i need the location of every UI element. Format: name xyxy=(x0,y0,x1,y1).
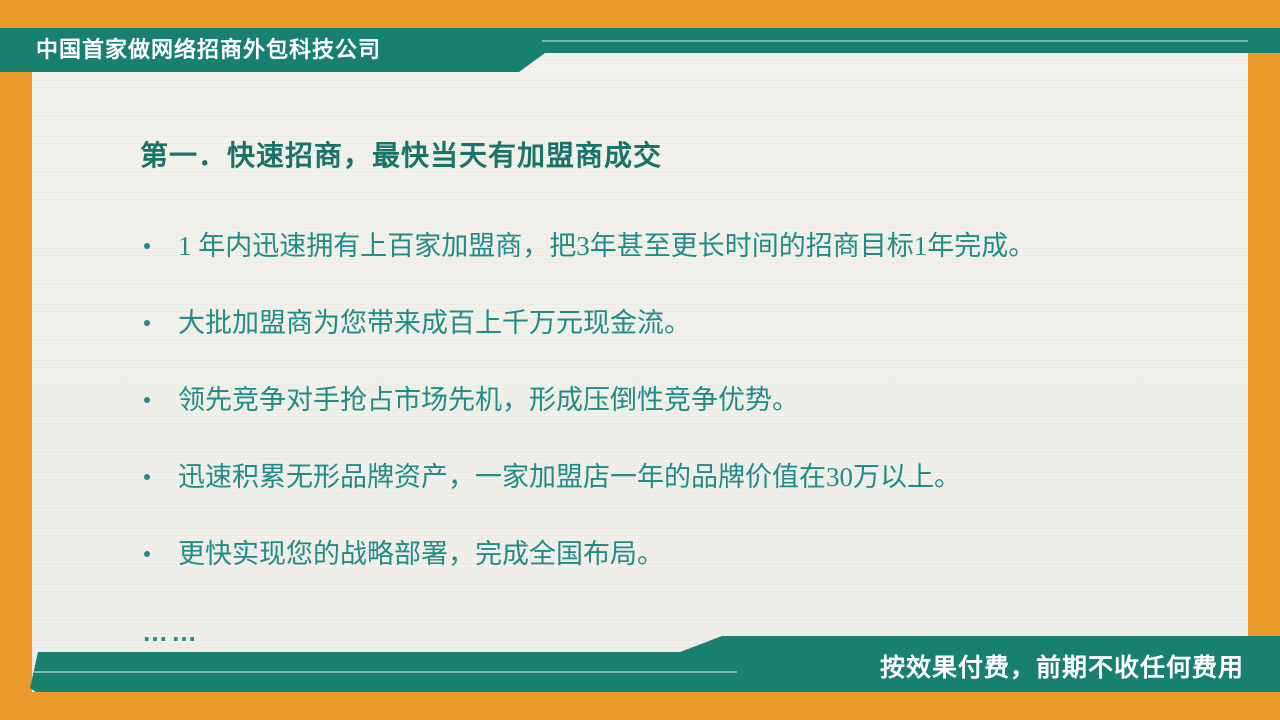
list-item: 更快实现您的战略部署，完成全国布局。 xyxy=(140,540,1220,568)
bullet-dot-icon xyxy=(144,243,150,249)
frame-top-orange xyxy=(0,0,1280,28)
list-item-text: 更快实现您的战略部署，完成全国布局。 xyxy=(178,539,664,569)
list-item-text: 大批加盟商为您带来成百上千万元现金流。 xyxy=(178,308,691,338)
footer-tagline: 按效果付费，前期不收任何费用 xyxy=(880,646,1244,690)
frame-right-orange xyxy=(1248,0,1280,720)
list-item-text: 领先竞争对手抢占市场先机，形成压倒性竞争优势。 xyxy=(178,385,799,415)
header-title: 中国首家做网络招商外包科技公司 xyxy=(36,28,381,72)
list-item-text: 1 年内迅速拥有上百家加盟商，把3年甚至更长时间的招商目标1年完成。 xyxy=(178,231,1035,261)
bullet-dot-icon xyxy=(144,551,150,557)
list-item: 迅速积累无形品牌资产，一家加盟店一年的品牌价值在30万以上。 xyxy=(140,463,1220,491)
list-item: 1 年内迅速拥有上百家加盟商，把3年甚至更长时间的招商目标1年完成。 xyxy=(140,232,1220,260)
footer-banner: 按效果付费，前期不收任何费用 xyxy=(0,636,1280,692)
bullet-dot-icon xyxy=(144,397,150,403)
bullet-dot-icon xyxy=(144,320,150,326)
header-divider-line xyxy=(542,40,1248,42)
list-item: 大批加盟商为您带来成百上千万元现金流。 xyxy=(140,309,1220,337)
list-item-text: 迅速积累无形品牌资产，一家加盟店一年的品牌价值在30万以上。 xyxy=(178,462,961,492)
frame-left-orange xyxy=(0,0,32,720)
list-item: 领先竞争对手抢占市场先机，形成压倒性竞争优势。 xyxy=(140,386,1220,414)
header-banner: 中国首家做网络招商外包科技公司 xyxy=(0,28,1280,76)
slide-canvas: 中国首家做网络招商外包科技公司 第一．快速招商，最快当天有加盟商成交 1 年内迅… xyxy=(0,0,1280,720)
frame-bottom-orange xyxy=(0,692,1280,720)
bullet-list: 1 年内迅速拥有上百家加盟商，把3年甚至更长时间的招商目标1年完成。 大批加盟商… xyxy=(140,232,1220,617)
footer-divider-line xyxy=(34,671,737,673)
bullet-dot-icon xyxy=(144,474,150,480)
section-heading: 第一．快速招商，最快当天有加盟商成交 xyxy=(140,134,662,174)
